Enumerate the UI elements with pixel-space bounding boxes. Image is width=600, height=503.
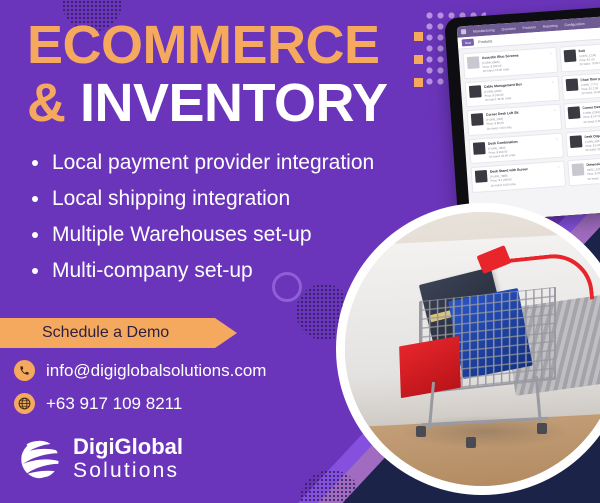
product-info: Dimensions [MISC_0101] Price: $ 20.00 On… [586, 161, 600, 180]
product-grid: Acoustic Bloc Screens [FURN_6666] Price:… [458, 36, 600, 197]
list-item: Local payment provider integration [26, 152, 446, 173]
logo-name-sub: Solutions [73, 460, 183, 481]
promotional-poster: ECOMMERCE & INVENTORY Local payment prov… [0, 0, 600, 503]
logo-name-main: DigiGlobal [73, 436, 183, 458]
product-stock: On hand: 40.00 Units [489, 153, 519, 159]
product-card[interactable]: Chair floor protection [FURN_7777] Price… [561, 69, 600, 101]
red-panel [399, 336, 461, 398]
product-info: Chair floor protection [FURN_7777] Price… [580, 75, 600, 95]
product-card[interactable]: Bolt [CONS_1234] Price: $ 1.00 On hand: … [559, 40, 600, 72]
company-logo: DigiGlobal Solutions [16, 434, 183, 482]
schedule-demo-label: Schedule a Demo [42, 324, 169, 342]
product-card[interactable]: Acoustic Bloc Screens [FURN_6666] Price:… [463, 47, 558, 79]
product-info: Corner Desk Left Sit [FURN_1118] Price: … [486, 111, 520, 131]
email-address: info@digiglobalsolutions.com [46, 361, 266, 381]
breadcrumb[interactable]: Products [478, 39, 492, 44]
product-thumbnail [571, 163, 584, 176]
favorite-star-icon[interactable]: ☆ [551, 80, 554, 84]
tablet-device-mockup: Manufacturing Overview Products Reportin… [444, 4, 600, 223]
globe-icon [14, 393, 35, 414]
favorite-star-icon[interactable]: ☆ [549, 51, 552, 55]
product-thumbnail [471, 113, 484, 126]
product-thumbnail [565, 78, 578, 91]
cart-wheel [416, 426, 426, 437]
product-info: Desk Stand with Screen [FURN_7888] Price… [490, 167, 530, 187]
phone-icon [14, 360, 35, 381]
headline-line-2: & INVENTORY [27, 75, 467, 131]
product-thumbnail [469, 85, 482, 98]
phone-number: +63 917 109 8211 [46, 394, 182, 414]
globe-swoosh-logo-icon [16, 434, 64, 482]
nav-item-manufacturing[interactable]: Manufacturing [473, 28, 495, 33]
product-thumbnail [475, 170, 488, 183]
product-info: Desk Combination [FURN_7800] Price: $ 45… [488, 139, 519, 159]
nav-item-reporting[interactable]: Reporting [543, 23, 558, 28]
headline-inventory: INVENTORY [80, 73, 388, 133]
list-item: Local shipping integration [26, 188, 446, 209]
product-thumbnail [563, 50, 576, 63]
product-stock: On hand: 30.00 Units [585, 146, 600, 152]
cart-wheel [537, 423, 547, 434]
favorite-star-icon[interactable]: ☆ [555, 137, 558, 141]
nav-item-configuration[interactable]: Configuration [564, 21, 584, 26]
logo-wordmark: DigiGlobal Solutions [73, 436, 183, 481]
product-card[interactable]: Desk Stand with Screen [FURN_7888] Price… [471, 161, 566, 193]
product-card[interactable]: Corner Desk Left Sit [FURN_1118] Price: … [467, 104, 562, 136]
tablet-screen: Manufacturing Overview Products Reportin… [457, 13, 600, 222]
product-info: Desk Organizer [FURN_0001] Price: $ 5.00… [584, 133, 600, 152]
cart-wheel [466, 437, 476, 448]
product-thumbnail [473, 142, 486, 155]
product-info: Acoustic Bloc Screens [FURN_6666] Price:… [482, 53, 520, 73]
product-card[interactable]: Desk Combination [FURN_7800] Price: $ 45… [469, 132, 564, 164]
schedule-demo-button[interactable]: Schedule a Demo [0, 318, 237, 348]
nav-item-products[interactable]: Products [522, 25, 536, 30]
product-info: Corner Desk Right Sit [FURN_0269] Price:… [582, 104, 600, 124]
headline-block: ECOMMERCE & INVENTORY [27, 18, 467, 131]
favorite-star-icon[interactable]: ☆ [557, 165, 560, 169]
nav-item-overview[interactable]: Overview [501, 26, 515, 31]
contact-row-phone[interactable]: +63 917 109 8211 [14, 393, 354, 414]
product-card[interactable]: Corner Desk Right Sit [FURN_0269] Price:… [563, 97, 600, 129]
headline-ampersand: & [27, 73, 66, 133]
favorite-star-icon[interactable]: ☆ [553, 108, 556, 112]
contact-block: info@digiglobalsolutions.com +63 917 109… [14, 360, 354, 426]
product-card[interactable]: Cable Management Box [FURN_5555] Price: … [465, 75, 560, 107]
product-thumbnail [569, 135, 582, 148]
headline-line-1: ECOMMERCE [27, 18, 467, 73]
product-card[interactable]: Dimensions [MISC_0101] Price: $ 20.00 On… [567, 154, 600, 186]
product-stock: On hand: 70.00 Units [579, 61, 600, 67]
product-card[interactable]: Desk Organizer [FURN_0001] Price: $ 5.00… [565, 126, 600, 158]
product-thumbnail [467, 56, 480, 69]
product-thumbnail [567, 106, 580, 119]
shopping-cart-photo [336, 203, 600, 495]
grid-icon [461, 29, 466, 34]
new-button[interactable]: New [462, 39, 475, 47]
product-info: Bolt [CONS_1234] Price: $ 1.00 On hand: … [578, 47, 600, 66]
product-info: Cable Management Box [FURN_5555] Price: … [484, 82, 523, 102]
photo-content [345, 212, 600, 486]
contact-row-email[interactable]: info@digiglobalsolutions.com [14, 360, 354, 381]
